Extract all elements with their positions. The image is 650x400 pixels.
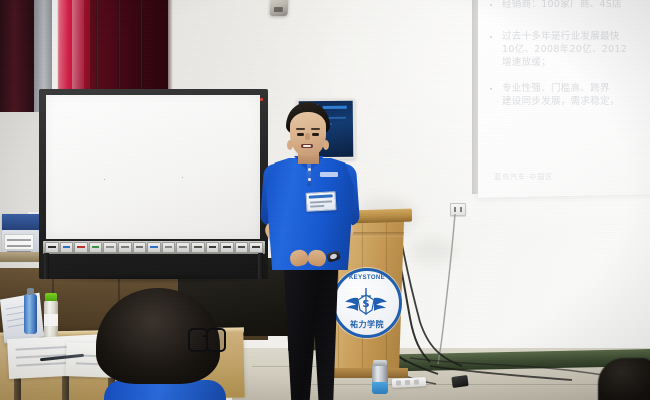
slide-bullet-dot — [490, 4, 492, 6]
cardboard-box — [2, 214, 44, 254]
page-next-button[interactable] — [220, 242, 234, 253]
curtain-fold — [118, 0, 121, 92]
power-adapter — [451, 375, 468, 388]
polo-button — [308, 178, 311, 181]
foreground-chair — [598, 358, 650, 400]
projection-screen: 经销商：100家厂商、4S店 过去十多年是行业发展最快 10亿、2008年20亿… — [478, 0, 650, 198]
strip-socket — [396, 380, 401, 385]
mouth — [301, 144, 313, 148]
slide-bullet-line: 建设同步发展，需求稳定， — [502, 95, 620, 108]
keyboard-button[interactable] — [191, 242, 205, 253]
lens-left — [188, 328, 208, 352]
badge-text-line — [310, 200, 332, 203]
watch-face — [329, 253, 337, 260]
pen-green-button[interactable] — [89, 242, 103, 253]
whiteboard-shadow — [39, 274, 269, 284]
whiteboard-surface[interactable] — [46, 95, 260, 239]
eye-right — [312, 133, 319, 136]
slide-footer: 蓝鸟汽车·中国区 — [494, 172, 553, 182]
ceiling-speaker-icon — [270, 0, 289, 16]
strip-socket — [405, 380, 410, 385]
board-speck — [104, 179, 105, 180]
undo-button[interactable] — [162, 242, 176, 253]
ear-left — [287, 140, 293, 150]
page-prev-button[interactable] — [206, 242, 220, 253]
screenshot-root: 经销商：100家厂商、4S店 过去十多年是行业发展最快 10亿、2008年20亿… — [0, 0, 650, 400]
eyeglasses-icon — [188, 328, 222, 350]
box-label — [4, 234, 34, 250]
steel-thermos — [372, 364, 388, 394]
curtain-left-dark — [0, 0, 36, 112]
seated-student — [96, 288, 224, 400]
speaker-grill — [274, 7, 283, 12]
wall-smudge — [410, 238, 456, 264]
presenter-legs — [280, 266, 342, 400]
wall-outlet-icon[interactable] — [450, 203, 466, 216]
slide-bullet-line: 过去十多年是行业发展最快 — [502, 30, 620, 43]
eraser-button[interactable] — [103, 242, 117, 253]
box-band — [2, 214, 44, 230]
teeth — [303, 145, 311, 147]
slide-bullet-line: 10亿、2008年20亿、2012 — [502, 43, 627, 56]
name-badge — [306, 191, 337, 212]
pen-red-button[interactable] — [74, 242, 88, 253]
redo-button[interactable] — [176, 242, 190, 253]
eyebrow-right — [311, 128, 320, 130]
mouse-button[interactable] — [235, 242, 249, 253]
pen-black-button[interactable] — [45, 242, 59, 253]
thermos-cap — [373, 360, 387, 366]
notebook — [0, 293, 44, 344]
eyebrow-left — [296, 128, 305, 130]
presenter — [250, 100, 370, 400]
blue-water-bottle — [24, 294, 37, 334]
select-button[interactable] — [118, 242, 132, 253]
curtain-edge — [163, 0, 173, 90]
thermos-band — [372, 382, 388, 394]
bottle-label — [44, 314, 58, 326]
pen-blue-button[interactable] — [60, 242, 74, 253]
slide-bullet-line: 经销商：100家厂商、4S店 — [502, 0, 622, 11]
slide-bullet-dot — [490, 88, 492, 90]
curtain-fold — [140, 0, 143, 92]
slide-bullet-dot — [490, 36, 492, 38]
shapes-button[interactable] — [133, 242, 147, 253]
badge-text-line — [310, 205, 324, 207]
slide-bullet-line: 增速放缓； — [502, 56, 551, 69]
board-speck — [182, 177, 183, 178]
power-strip — [392, 377, 426, 388]
company-logo — [320, 172, 338, 177]
eye-left — [297, 133, 304, 136]
ear-right — [323, 140, 329, 150]
bottle-cap-green — [45, 293, 57, 301]
interactive-whiteboard[interactable] — [39, 89, 268, 279]
slide-bullet-line: 专业性强、门槛高、跨界 — [502, 82, 610, 95]
lens-right — [206, 328, 226, 352]
bottle-cap — [27, 288, 34, 295]
curtain-fold — [96, 0, 99, 92]
curtain-maroon-panel-2 — [90, 0, 168, 90]
polo-button — [308, 168, 311, 171]
highlighter-button[interactable] — [147, 242, 161, 253]
strip-socket — [414, 379, 419, 384]
badge-accent-bar — [309, 194, 333, 198]
nose — [305, 133, 310, 140]
